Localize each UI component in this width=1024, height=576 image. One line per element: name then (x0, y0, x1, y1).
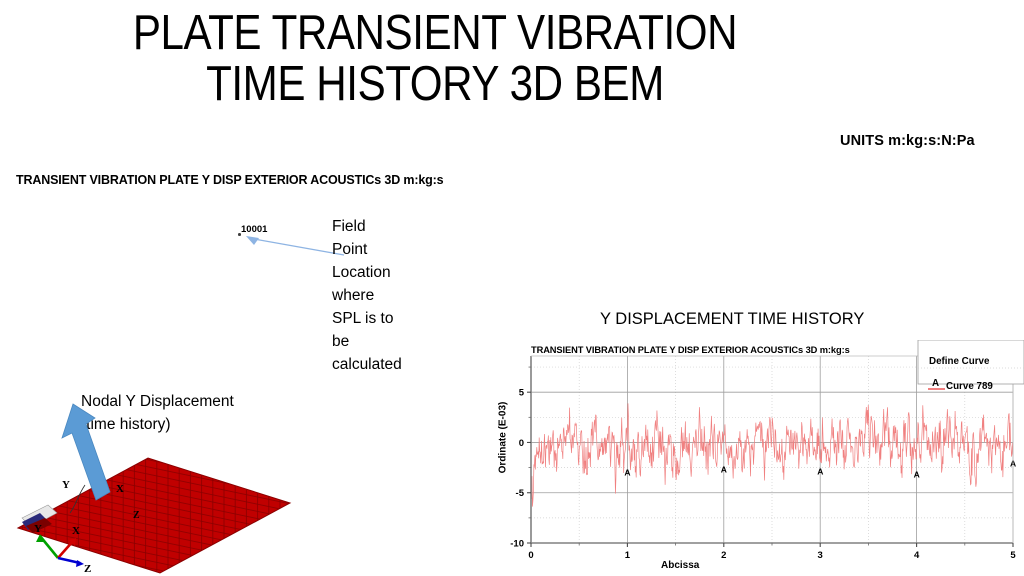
legend-title: Define Curve (929, 356, 989, 367)
x-axis-tick-label: 4 (914, 550, 920, 561)
plate-3d-model: Y X Z Y X Z (0, 400, 320, 576)
series-marker-letter: A (914, 470, 920, 480)
svg-text:Y: Y (34, 523, 42, 535)
x-axis-tick-label: 5 (1010, 550, 1016, 561)
series-marker-letter: A (721, 465, 727, 475)
svg-text:Z: Z (84, 563, 91, 575)
svg-text:X: X (72, 525, 80, 537)
legend-series-color-swatch (928, 388, 945, 390)
page-title: PLATE TRANSIENT VIBRATION TIME HISTORY 3… (108, 8, 762, 111)
x-axis-tick-label: 2 (721, 550, 726, 561)
x-axis-tick-label: 3 (818, 550, 823, 561)
series-marker-letter: A (624, 468, 630, 478)
plate-local-axis-x-label: X (116, 483, 124, 495)
y-axis-tick-label: -10 (510, 539, 524, 550)
chart-heading: Y DISPLACEMENT TIME HISTORY (600, 310, 864, 329)
field-point-caption: Field Point Location where SPL is to be … (332, 215, 402, 376)
units-label: UNITS m:kg:s:N:Pa (840, 133, 975, 149)
y-axis-tick-label: 0 (519, 438, 524, 449)
plate-local-axis-z-label: Z (133, 510, 140, 521)
y-axis-tick-label: 5 (519, 388, 525, 399)
series-marker-letter: A (817, 467, 823, 477)
x-axis-tick-label: 1 (625, 550, 631, 561)
y-axis-tick-label: -5 (516, 488, 525, 499)
x-axis-tick-label: 0 (528, 550, 533, 561)
plate-local-axis-y-label: Y (62, 479, 70, 491)
model-subtitle: TRANSIENT VIBRATION PLATE Y DISP EXTERIO… (16, 173, 443, 187)
legend-series-label: Curve 789 (946, 381, 993, 392)
y-displacement-chart: TRANSIENT VIBRATION PLATE Y DISP EXTERIO… (486, 340, 1024, 576)
